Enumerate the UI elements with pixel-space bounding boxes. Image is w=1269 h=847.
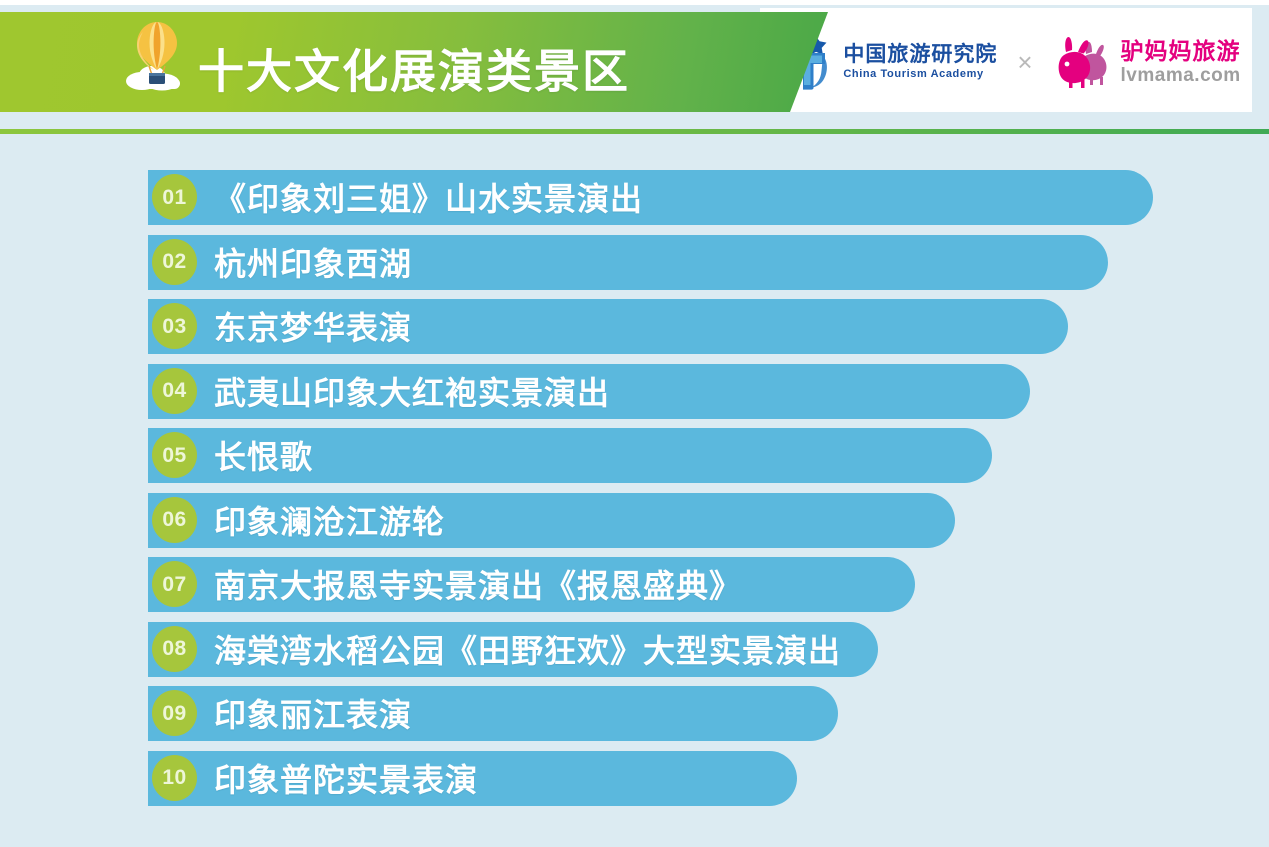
- header-divider-rule: [0, 129, 1269, 134]
- rank-label: 海棠湾水稻公园《田野狂欢》大型实景演出: [214, 620, 841, 678]
- ranking-row[interactable]: 04武夷山印象大红袍实景演出: [0, 362, 1269, 427]
- rank-label: 东京梦华表演: [214, 297, 412, 355]
- rank-badge: 01: [152, 174, 197, 220]
- rank-label: 长恨歌: [214, 426, 313, 484]
- rank-number: 05: [162, 445, 186, 466]
- cta-name-en: China Tourism Academy: [843, 69, 997, 80]
- rank-badge: 09: [152, 690, 197, 736]
- rank-label: 《印象刘三姐》山水实景演出: [214, 168, 643, 226]
- hot-air-balloon-icon: [118, 16, 196, 94]
- ranking-row[interactable]: 09印象丽江表演: [0, 684, 1269, 749]
- rank-number: 03: [162, 316, 186, 337]
- ranking-row[interactable]: 06印象澜沧江游轮: [0, 491, 1269, 556]
- rank-badge: 10: [152, 755, 197, 801]
- lvmama-name-cn: 驴妈妈旅游: [1121, 40, 1241, 63]
- ranking-row[interactable]: 02杭州印象西湖: [0, 233, 1269, 298]
- rank-label: 印象澜沧江游轮: [214, 491, 445, 549]
- rank-badge: 02: [152, 239, 197, 285]
- rank-label: 杭州印象西湖: [214, 233, 412, 291]
- ranking-row[interactable]: 10印象普陀实景表演: [0, 749, 1269, 814]
- ranking-row[interactable]: 08海棠湾水稻公园《田野狂欢》大型实景演出: [0, 620, 1269, 685]
- partner-logos: 中国旅游研究院 China Tourism Academy ×: [760, 8, 1252, 116]
- rank-number: 02: [162, 251, 186, 272]
- lvmama-wordmark: 驴妈妈旅游 lvmama.com: [1121, 40, 1241, 85]
- ranking-row[interactable]: 03东京梦华表演: [0, 297, 1269, 362]
- rank-badge: 03: [152, 303, 197, 349]
- cta-name-cn: 中国旅游研究院: [843, 44, 997, 65]
- page-header: 中国旅游研究院 China Tourism Academy ×: [0, 0, 1269, 140]
- ranking-row[interactable]: 05长恨歌: [0, 426, 1269, 491]
- header-rule-gap: [0, 112, 1269, 129]
- rank-number: 09: [162, 703, 186, 724]
- infographic-page: 中国旅游研究院 China Tourism Academy ×: [0, 0, 1269, 847]
- rank-badge: 06: [152, 497, 197, 543]
- partner-logo-panel: 中国旅游研究院 China Tourism Academy ×: [760, 8, 1252, 116]
- lvmama-name-en: lvmama.com: [1121, 66, 1241, 85]
- rank-number: 06: [162, 509, 186, 530]
- rank-badge: 07: [152, 561, 197, 607]
- ranking-row[interactable]: 07南京大报恩寺实景演出《报恩盛典》: [0, 555, 1269, 620]
- rank-label: 武夷山印象大红袍实景演出: [214, 362, 610, 420]
- rank-number: 07: [162, 574, 186, 595]
- rank-number: 04: [162, 380, 186, 401]
- cta-wordmark: 中国旅游研究院 China Tourism Academy: [843, 44, 997, 80]
- logo-separator-icon: ×: [1013, 47, 1036, 78]
- page-title: 十大文化展演类景区: [198, 36, 630, 102]
- rank-badge: 08: [152, 626, 197, 672]
- ranking-list: 01《印象刘三姐》山水实景演出02杭州印象西湖03东京梦华表演04武夷山印象大红…: [0, 168, 1269, 813]
- donkey-icon: [1053, 36, 1115, 88]
- rank-label: 南京大报恩寺实景演出《报恩盛典》: [214, 555, 742, 613]
- rank-number: 08: [162, 638, 186, 659]
- rank-number: 10: [162, 767, 186, 788]
- rank-label: 印象普陀实景表演: [214, 749, 478, 807]
- logo-lvmama: 驴妈妈旅游 lvmama.com: [1053, 36, 1241, 88]
- rank-badge: 04: [152, 368, 197, 414]
- rank-label: 印象丽江表演: [214, 684, 412, 742]
- rank-number: 01: [162, 187, 186, 208]
- rank-badge: 05: [152, 432, 197, 478]
- ranking-row[interactable]: 01《印象刘三姐》山水实景演出: [0, 168, 1269, 233]
